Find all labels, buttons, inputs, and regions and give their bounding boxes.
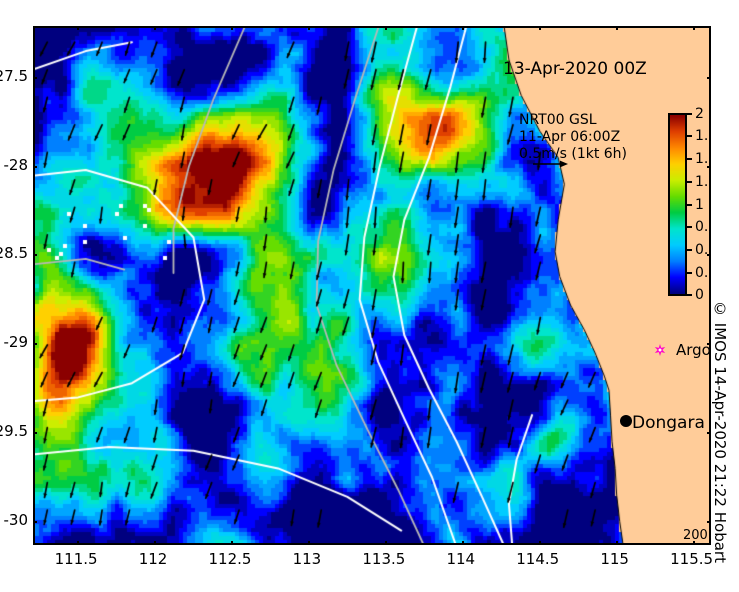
depth-200m-label: 200m (683, 528, 711, 543)
x-tick-top (154, 26, 156, 30)
colorbar-tick-label: 0.5 (695, 242, 711, 258)
dongara-location-dot (620, 415, 632, 427)
x-tick (308, 541, 310, 545)
colorbar-tick (687, 113, 692, 115)
sst-age-map-figure: 13-Apr-2020 00Z NRT00 GSL 11-Apr 06:00Z … (0, 0, 739, 592)
product-valid-time: 11-Apr 06:00Z (519, 129, 627, 146)
colorbar-tick-label: 2 (695, 106, 704, 122)
colorbar-tick (687, 135, 692, 137)
y-tick (33, 166, 37, 168)
x-axis-tick-label: 112.5 (208, 550, 251, 568)
depth-contour-legend: 200m 1000m (683, 528, 711, 545)
colorbar-tick-label: 1 (695, 197, 704, 213)
x-axis-tick-label: 114.5 (516, 550, 559, 568)
x-axis-tick-label: 113 (293, 550, 322, 568)
y-axis-tick-label: -29.5 (0, 422, 28, 440)
colorbar-gradient (668, 113, 687, 296)
x-tick (154, 541, 156, 545)
colorbar-tick (687, 272, 692, 274)
product-name: NRT00 GSL (519, 112, 627, 129)
x-tick (539, 541, 541, 545)
x-tick (616, 541, 618, 545)
x-tick-top (77, 26, 79, 30)
argo-star-icon (653, 343, 667, 357)
y-axis-tick-label: -29 (4, 333, 29, 351)
velocity-scale-arrow-icon (532, 159, 568, 169)
x-tick-top (385, 26, 387, 30)
x-tick-top (231, 26, 233, 30)
x-axis-tick-label: 112 (139, 550, 168, 568)
dongara-city-label: Dongara (632, 413, 705, 433)
y-tick (33, 521, 37, 523)
x-tick (77, 541, 79, 545)
x-axis-tick-label: 111.5 (55, 550, 98, 568)
current-product-annotation: NRT00 GSL 11-Apr 06:00Z 0.5m/s (1kt 6h) (519, 112, 627, 163)
argo-legend-label: Argo (676, 341, 711, 359)
colorbar-tick (687, 181, 692, 183)
y-axis-tick-label: -30 (4, 511, 29, 529)
y-axis-tick-label: -28.5 (0, 244, 28, 262)
y-axis-tick-label: -28 (4, 156, 29, 174)
colorbar-title: Age (days) of filled SST (wrt latest) (710, 111, 711, 298)
x-tick (385, 541, 387, 545)
colorbar-tick-label: 0.25 (695, 265, 711, 281)
colorbar-tick-label: 1.25 (695, 174, 711, 190)
land-mask (35, 28, 709, 543)
colorbar-tick (687, 158, 692, 160)
y-tick (33, 77, 37, 79)
colorbar-tick-label: 1.75 (695, 128, 711, 144)
y-tick (33, 254, 37, 256)
x-tick (462, 541, 464, 545)
x-tick-top (693, 26, 695, 30)
colorbar-tick-label: 0 (695, 287, 704, 303)
colorbar-tick (687, 226, 692, 228)
y-tick (33, 343, 37, 345)
colorbar-tick-label: 0.75 (695, 219, 711, 235)
imos-credit-text: © IMOS 14-Apr-2020 21:22 Hobart (711, 300, 729, 563)
colorbar-tick (687, 294, 692, 296)
x-tick-top (308, 26, 310, 30)
x-axis-tick-label: 114 (446, 550, 475, 568)
colorbar-tick-label: 1.5 (695, 151, 711, 167)
y-tick-right (707, 77, 711, 79)
x-tick-top (462, 26, 464, 30)
x-axis-tick-label: 115 (600, 550, 629, 568)
x-axis-tick-label: 115.5 (670, 550, 713, 568)
depth-1000m-label: 1000m (683, 543, 711, 545)
colorbar-tick (687, 204, 692, 206)
map-plot-area[interactable]: 13-Apr-2020 00Z NRT00 GSL 11-Apr 06:00Z … (33, 26, 711, 545)
x-tick-top (539, 26, 541, 30)
colorbar-tick (687, 249, 692, 251)
y-axis-tick-label: -27.5 (0, 67, 28, 85)
y-tick (33, 432, 37, 434)
map-date-title: 13-Apr-2020 00Z (503, 59, 647, 79)
x-tick-top (616, 26, 618, 30)
x-axis-tick-label: 113.5 (362, 550, 405, 568)
x-tick (231, 541, 233, 545)
argo-legend-entry: Argo (653, 341, 711, 359)
